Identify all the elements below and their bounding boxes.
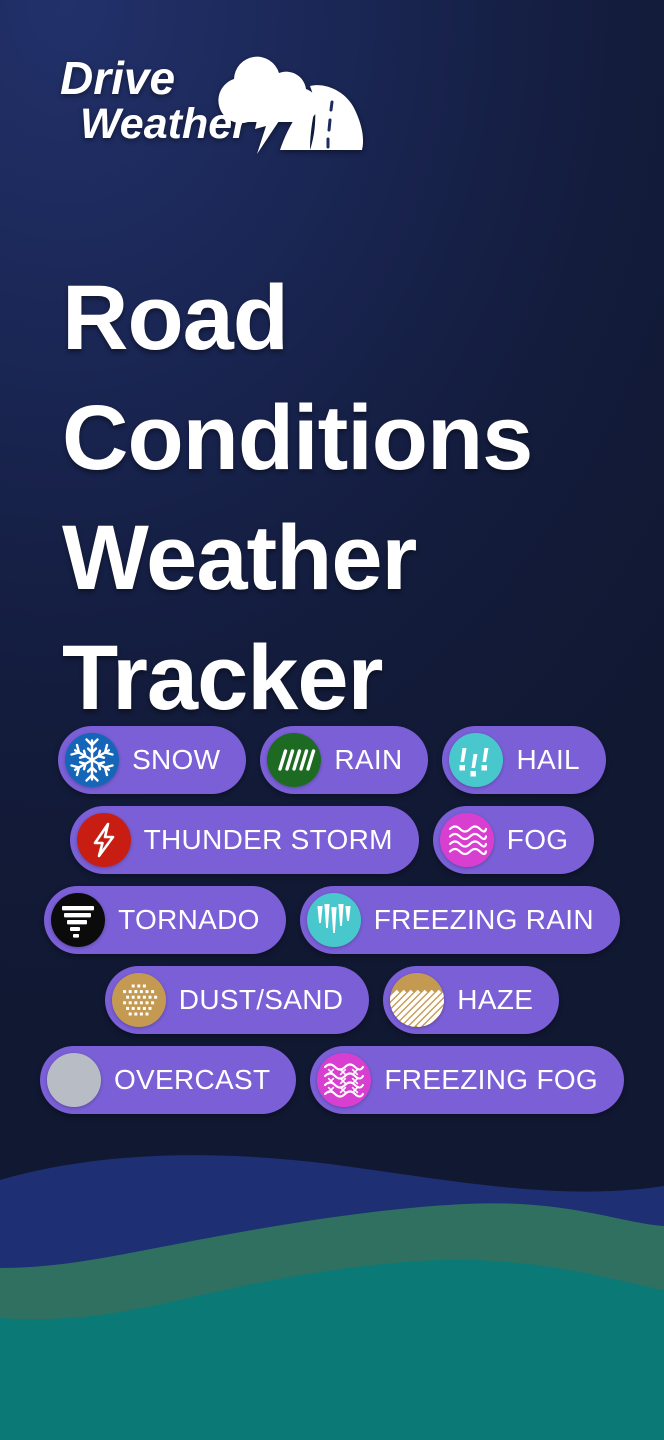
badge-row: OVERCAST FREEZING FOG — [0, 1046, 664, 1114]
title-line-4: Tracker — [62, 618, 634, 738]
title-line-2: Conditions — [62, 378, 634, 498]
weather-badge-label: FOG — [507, 824, 569, 856]
haze-stripes-icon — [390, 973, 444, 1027]
weather-badge-label: RAIN — [334, 744, 402, 776]
weather-badge-label: THUNDER STORM — [144, 824, 393, 856]
weather-badge-haze[interactable]: HAZE — [383, 966, 559, 1034]
rain-lines-icon — [267, 733, 321, 787]
weather-condition-badge-list: SNOW RAIN HAIL THUNDER STORM FOG — [0, 726, 664, 1114]
overcast-cloud-icon — [47, 1053, 101, 1107]
weather-badge-freezing-fog[interactable]: FREEZING FOG — [310, 1046, 624, 1114]
badge-row: DUST/SAND HAZE — [0, 966, 664, 1034]
page-title: Road Conditions Weather Tracker — [62, 258, 634, 738]
weather-badge-label: SNOW — [132, 744, 220, 776]
badge-row: THUNDER STORM FOG — [0, 806, 664, 874]
weather-badge-fog[interactable]: FOG — [433, 806, 595, 874]
freezing-fog-icon — [317, 1053, 371, 1107]
snowflake-icon — [65, 733, 119, 787]
background-waves — [0, 1140, 664, 1440]
dust-sand-icon — [112, 973, 166, 1027]
weather-badge-label: FREEZING RAIN — [374, 904, 594, 936]
weather-badge-label: DUST/SAND — [179, 984, 344, 1016]
weather-badge-label: OVERCAST — [114, 1064, 270, 1096]
badge-row: TORNADO FREEZING RAIN — [0, 886, 664, 954]
title-line-3: Weather — [62, 498, 634, 618]
badge-row: SNOW RAIN HAIL — [0, 726, 664, 794]
weather-badge-tornado[interactable]: TORNADO — [44, 886, 286, 954]
promo-screen: Drive Weather Road Conditions Weather — [0, 0, 664, 1440]
weather-badge-overcast[interactable]: OVERCAST — [40, 1046, 296, 1114]
hail-icon — [449, 733, 503, 787]
weather-badge-label: TORNADO — [118, 904, 260, 936]
weather-badge-label: HAIL — [516, 744, 579, 776]
weather-badge-freezing-rain[interactable]: FREEZING RAIN — [300, 886, 620, 954]
weather-badge-rain[interactable]: RAIN — [260, 726, 428, 794]
drive-weather-logo[interactable]: Drive Weather — [58, 46, 388, 156]
weather-badge-snow[interactable]: SNOW — [58, 726, 246, 794]
weather-badge-label: FREEZING FOG — [384, 1064, 598, 1096]
logo-line1: Drive — [60, 52, 175, 104]
weather-badge-hail[interactable]: HAIL — [442, 726, 605, 794]
weather-badge-thunder-storm[interactable]: THUNDER STORM — [70, 806, 419, 874]
lightning-bolt-icon — [77, 813, 131, 867]
weather-badge-dust-sand[interactable]: DUST/SAND — [105, 966, 370, 1034]
weather-badge-label: HAZE — [457, 984, 533, 1016]
tornado-icon — [51, 893, 105, 947]
title-line-1: Road — [62, 258, 634, 378]
fog-waves-icon — [440, 813, 494, 867]
freezing-rain-icon — [307, 893, 361, 947]
